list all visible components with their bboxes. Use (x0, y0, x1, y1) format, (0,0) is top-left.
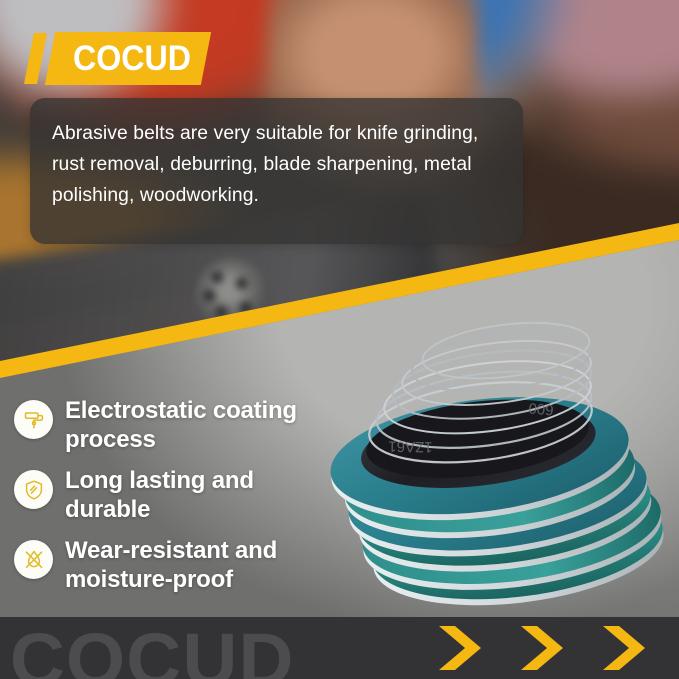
footer-watermark: COCUD (10, 623, 295, 679)
feature-label: Wear-resistant and moisture-proof (65, 536, 344, 594)
feature-label: Long lasting and durable (65, 466, 344, 524)
chevron-right-icon (517, 626, 569, 670)
svg-text:600: 600 (528, 399, 554, 418)
svg-text:1ZA61: 1ZA61 (388, 438, 432, 456)
footer-bar: COCUD (0, 617, 679, 679)
paint-roller-icon (14, 400, 53, 439)
product-image: 1ZA61 600 (318, 316, 679, 616)
product-infographic: Abrasive belts are very suitable for kni… (0, 0, 679, 679)
no-moisture-icon (14, 540, 53, 579)
feature-label: Electrostatic coating process (65, 396, 344, 454)
shield-icon (14, 470, 53, 509)
feature-item: Long lasting and durable (14, 466, 344, 524)
product-section: 1ZA61 600 Electrostatic coating process (0, 0, 679, 679)
chevron-right-icon (599, 626, 651, 670)
chevron-group (435, 617, 679, 679)
feature-list: Electrostatic coating process Long lasti… (14, 396, 344, 606)
feature-item: Electrostatic coating process (14, 396, 344, 454)
feature-item: Wear-resistant and moisture-proof (14, 536, 344, 594)
chevron-right-icon (435, 626, 487, 670)
